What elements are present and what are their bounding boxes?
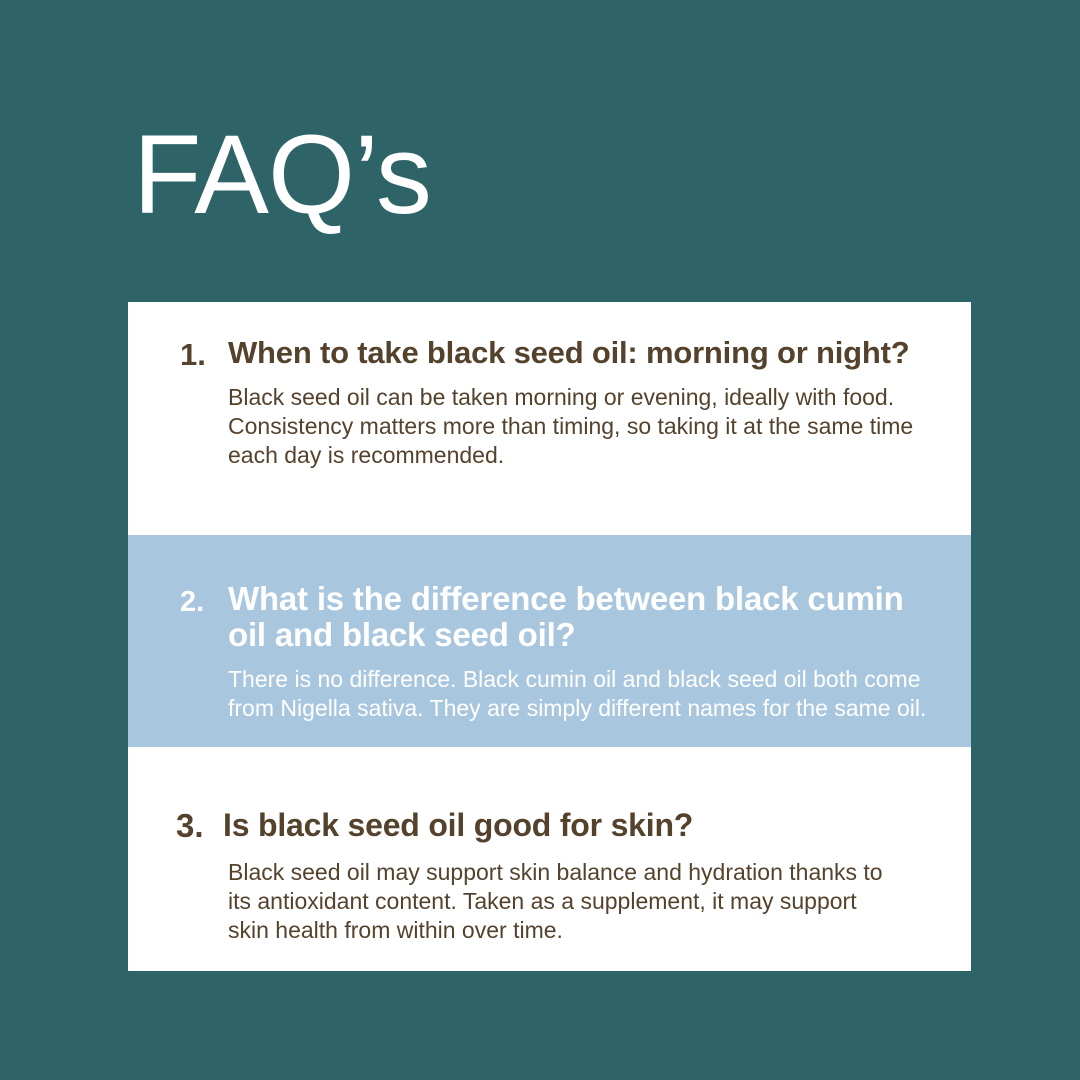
faq-item-answer: There is no difference. Black cumin oil … xyxy=(228,665,928,723)
faq-item-1[interactable]: 1. When to take black seed oil: morning … xyxy=(128,302,971,535)
faq-question-row: 1. When to take black seed oil: morning … xyxy=(180,336,941,373)
faq-item-2[interactable]: 2. What is the difference between black … xyxy=(128,535,971,747)
faq-item-answer: Black seed oil can be taken morning or e… xyxy=(228,383,918,470)
faq-page: FAQ’s 1. When to take black seed oil: mo… xyxy=(0,0,1080,1080)
faq-item-number: 2. xyxy=(180,581,228,623)
faq-item-question: What is the difference between black cum… xyxy=(228,581,941,653)
faq-card: 1. When to take black seed oil: morning … xyxy=(128,302,971,971)
faq-item-answer: Black seed oil may support skin balance … xyxy=(228,858,888,945)
faq-item-number: 3. xyxy=(176,807,223,844)
page-title: FAQ’s xyxy=(133,119,431,231)
faq-item-number: 1. xyxy=(180,336,228,373)
faq-item-3[interactable]: 3. Is black seed oil good for skin? Blac… xyxy=(128,747,971,971)
faq-question-row: 2. What is the difference between black … xyxy=(180,581,941,653)
faq-item-question: Is black seed oil good for skin? xyxy=(223,807,941,843)
faq-question-row: 3. Is black seed oil good for skin? xyxy=(178,807,941,844)
faq-item-question: When to take black seed oil: morning or … xyxy=(228,336,941,370)
